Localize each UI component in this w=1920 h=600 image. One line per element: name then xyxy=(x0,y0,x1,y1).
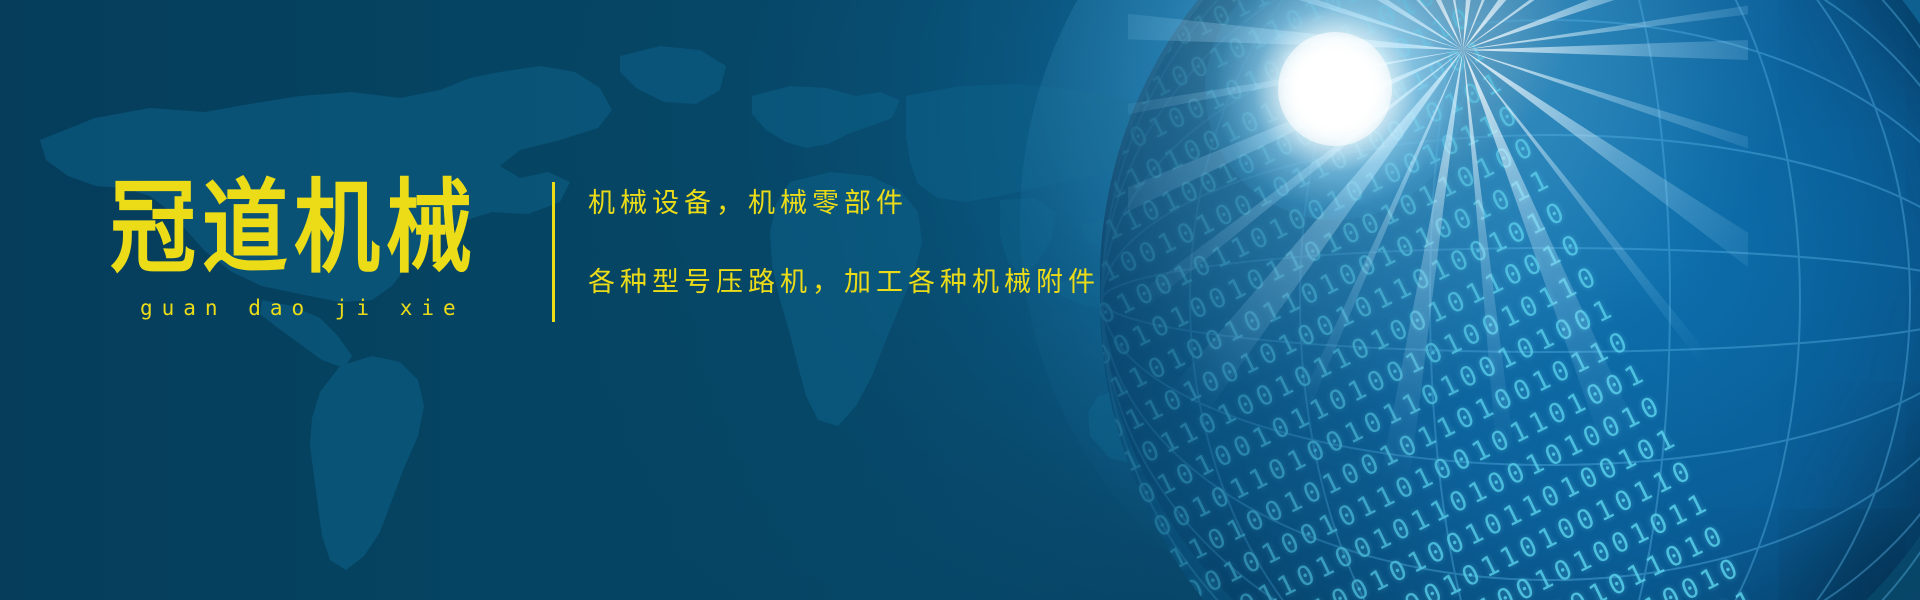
tagline-line-1: 机械设备，机械零部件 xyxy=(588,190,1568,217)
hero-banner: 1001010010110100101001011010010 01001011… xyxy=(0,0,1920,600)
tagline-group: 机械设备，机械零部件 各种型号压路机，加工各种机械附件 xyxy=(588,190,1568,296)
company-logo: 冠道机械 guan dao ji xie xyxy=(110,178,530,320)
tagline-line-2: 各种型号压路机，加工各种机械附件 xyxy=(588,269,1568,296)
company-name-cn: 冠道机械 xyxy=(110,178,530,279)
vertical-divider xyxy=(552,182,555,322)
banner-content: 冠道机械 guan dao ji xie 机械设备，机械零部件 各种型号压路机，… xyxy=(0,0,1920,600)
company-name-pinyin: guan dao ji xie xyxy=(110,296,530,320)
